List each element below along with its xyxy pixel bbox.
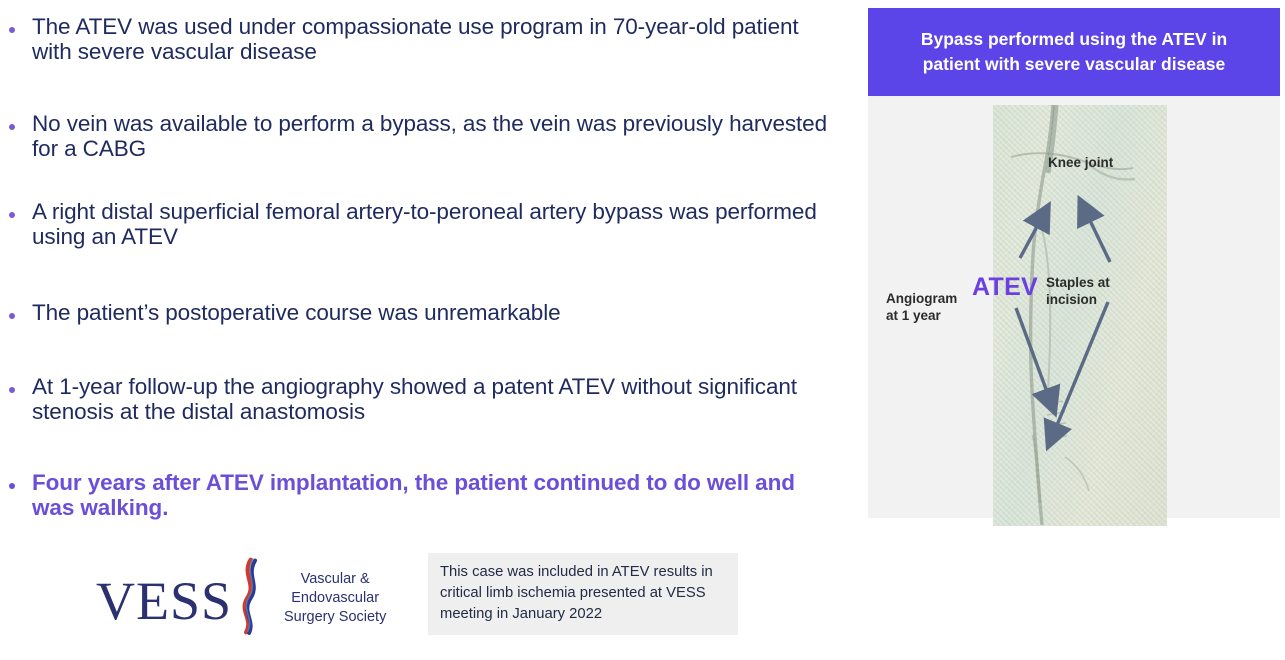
label-knee-joint: Knee joint bbox=[1048, 154, 1113, 171]
bullet-dot-icon bbox=[9, 313, 15, 319]
label-staples-line1: Staples at bbox=[1046, 274, 1110, 291]
caption-text: This case was included in ATEV results i… bbox=[440, 562, 726, 625]
bullet-dot-icon bbox=[9, 387, 15, 393]
label-angiogram-line1: Angiogram bbox=[886, 290, 957, 307]
bullet-text: At 1-year follow-up the angiography show… bbox=[32, 374, 830, 424]
figure-panel: Bypass performed using the ATEV in patie… bbox=[868, 8, 1280, 518]
vess-ribbon-icon bbox=[234, 546, 264, 646]
label-staples-line2: incision bbox=[1046, 291, 1110, 308]
list-item: The patient’s postoperative course was u… bbox=[0, 300, 830, 325]
bullet-dot-icon bbox=[9, 124, 15, 130]
caption-box: This case was included in ATEV results i… bbox=[428, 553, 738, 635]
vess-subtitle: Vascular & Endovascular Surgery Society bbox=[274, 570, 396, 627]
list-item: No vein was available to perform a bypas… bbox=[0, 111, 830, 161]
bullet-dot-icon bbox=[9, 27, 15, 33]
bullet-dot-icon bbox=[9, 483, 15, 489]
list-item-highlight: Four years after ATEV implantation, the … bbox=[0, 470, 830, 520]
angiogram-stage: Knee joint Staples at incision Angiogram… bbox=[868, 96, 1280, 518]
bullet-text: A right distal superficial femoral arter… bbox=[32, 199, 830, 249]
bullet-text: Four years after ATEV implantation, the … bbox=[32, 470, 830, 520]
label-staples: Staples at incision bbox=[1046, 274, 1110, 308]
figure-header: Bypass performed using the ATEV in patie… bbox=[868, 8, 1280, 96]
list-item: The ATEV was used under compassionate us… bbox=[0, 14, 830, 64]
list-item: At 1-year follow-up the angiography show… bbox=[0, 374, 830, 424]
vess-subtitle-line2: Surgery Society bbox=[274, 608, 396, 627]
vess-subtitle-line1: Vascular & Endovascular bbox=[274, 570, 396, 608]
label-angiogram-line2: at 1 year bbox=[886, 307, 957, 324]
bullet-text: The patient’s postoperative course was u… bbox=[32, 300, 561, 325]
figure-header-text: Bypass performed using the ATEV in patie… bbox=[899, 27, 1249, 77]
list-item: A right distal superficial femoral arter… bbox=[0, 199, 830, 249]
bullet-text: The ATEV was used under compassionate us… bbox=[32, 14, 830, 64]
bullet-dot-icon bbox=[9, 212, 15, 218]
slide-root: The ATEV was used under compassionate us… bbox=[0, 0, 1285, 660]
bullet-text: No vein was available to perform a bypas… bbox=[32, 111, 830, 161]
label-atev: ATEV bbox=[972, 273, 1038, 302]
vess-logo: VESS Vascular & Endovascular Surgery Soc… bbox=[96, 556, 396, 640]
label-angiogram: Angiogram at 1 year bbox=[886, 290, 957, 324]
vess-wordmark: VESS bbox=[96, 574, 232, 628]
